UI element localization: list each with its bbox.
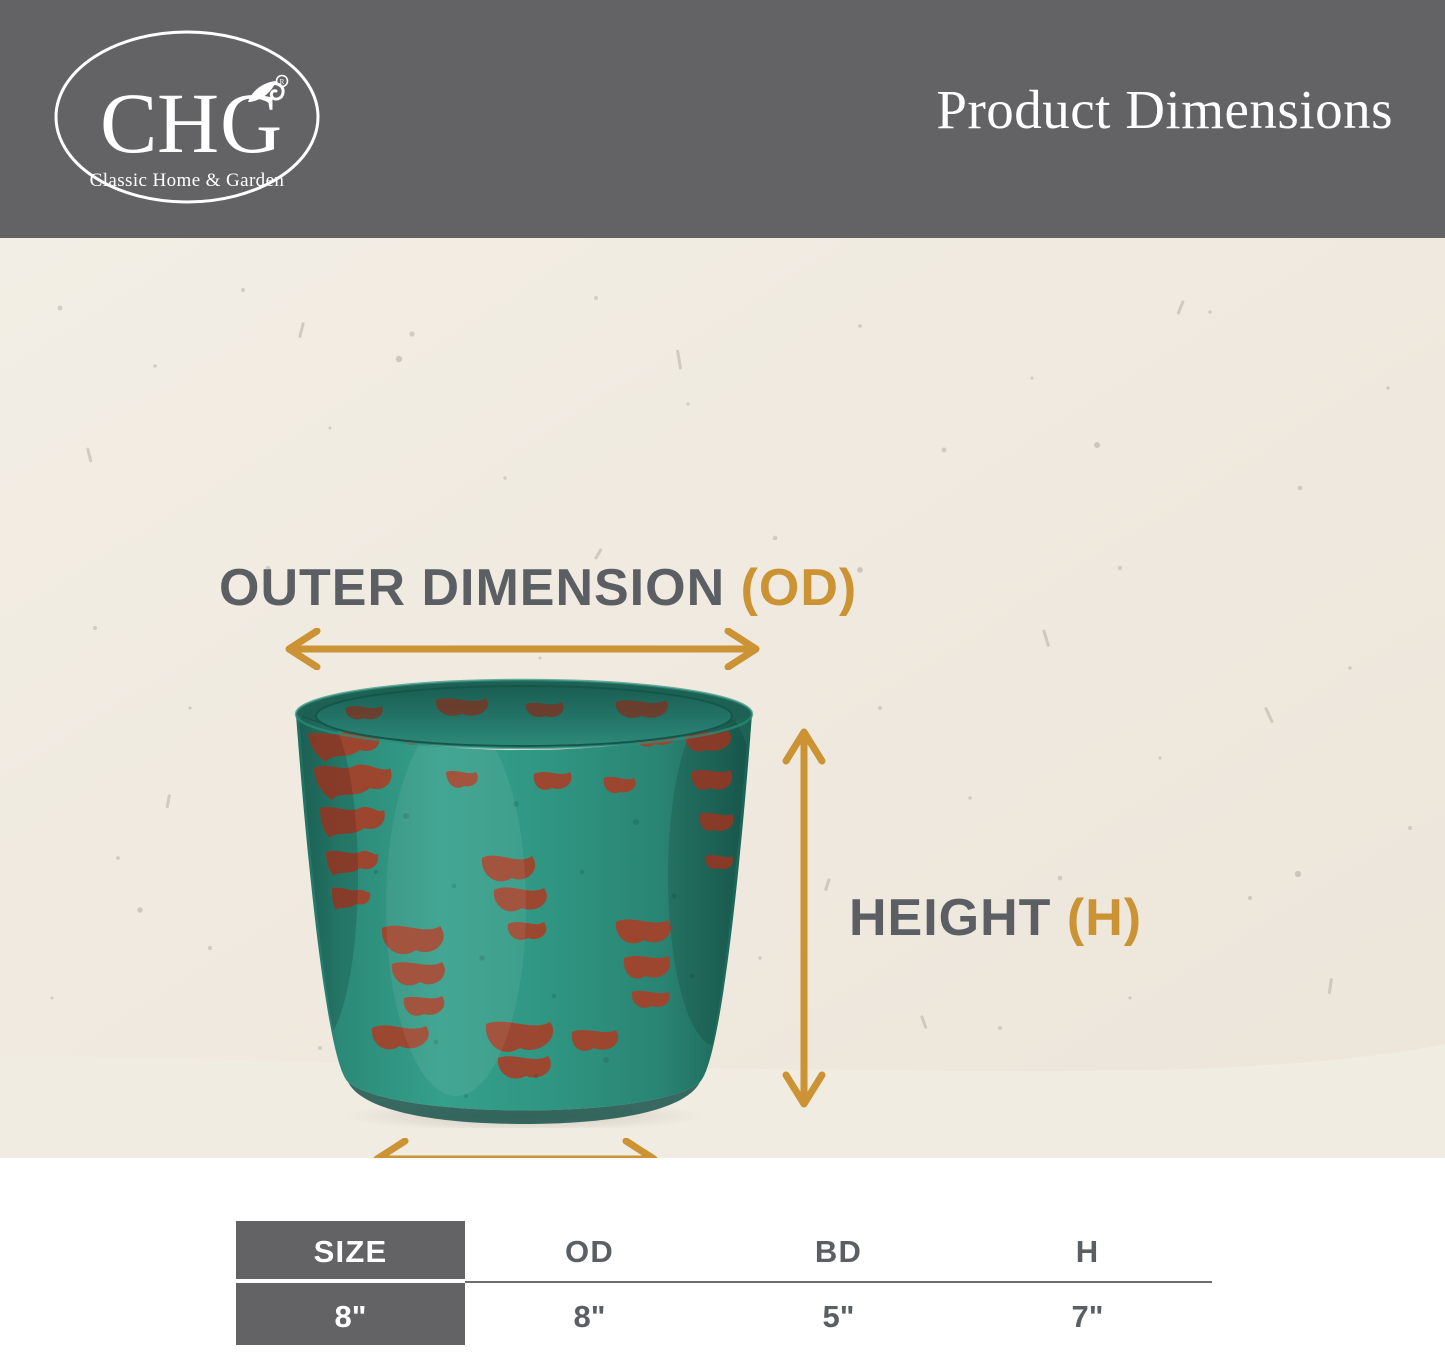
table-cell-bd: 5"	[714, 1299, 963, 1335]
outer-dimension-arrow-icon	[275, 628, 770, 670]
height-arrow-icon	[780, 720, 828, 1116]
logo-letter-c: C	[100, 80, 157, 166]
spec-table: SIZE OD BD H 8" 8" 5" 7"	[236, 1221, 1212, 1345]
logo-tagline: Classic Home & Garden	[52, 170, 322, 192]
outer-dimension-label-accent: (OD)	[741, 559, 858, 617]
base-dimension-arrow-icon	[363, 1138, 668, 1158]
outer-dimension-label-main: OUTER DIMENSION	[219, 559, 725, 617]
header-bar: C H G R Classic Home & Garden Product Di…	[0, 0, 1445, 238]
outer-dimension-label: OUTER DIMENSION (OD)	[219, 558, 857, 618]
diagram-panel: OUTER DIMENSION (OD) HEIGHT (H) BASE DIM	[0, 238, 1445, 1158]
planter-pot-image	[286, 676, 762, 1128]
svg-text:R: R	[280, 78, 285, 86]
page-title: Product Dimensions	[936, 78, 1393, 141]
table-cell-size: 8"	[236, 1299, 465, 1335]
height-label-accent: (H)	[1067, 889, 1142, 947]
table-header-h: H	[963, 1234, 1212, 1270]
height-label: HEIGHT (H)	[849, 888, 1142, 948]
table-header-size: SIZE	[236, 1234, 465, 1270]
logo-letter-h: H	[157, 80, 219, 166]
table-cell-od: 8"	[465, 1299, 714, 1335]
table-header-bd: BD	[714, 1234, 963, 1270]
table-cell-h: 7"	[963, 1299, 1212, 1335]
table-header-od: OD	[465, 1234, 714, 1270]
leaf-vine-icon: R	[238, 72, 294, 120]
chg-logo: C H G R Classic Home & Garden	[52, 28, 322, 206]
height-label-main: HEIGHT	[849, 889, 1051, 947]
table-divider	[465, 1281, 1212, 1283]
